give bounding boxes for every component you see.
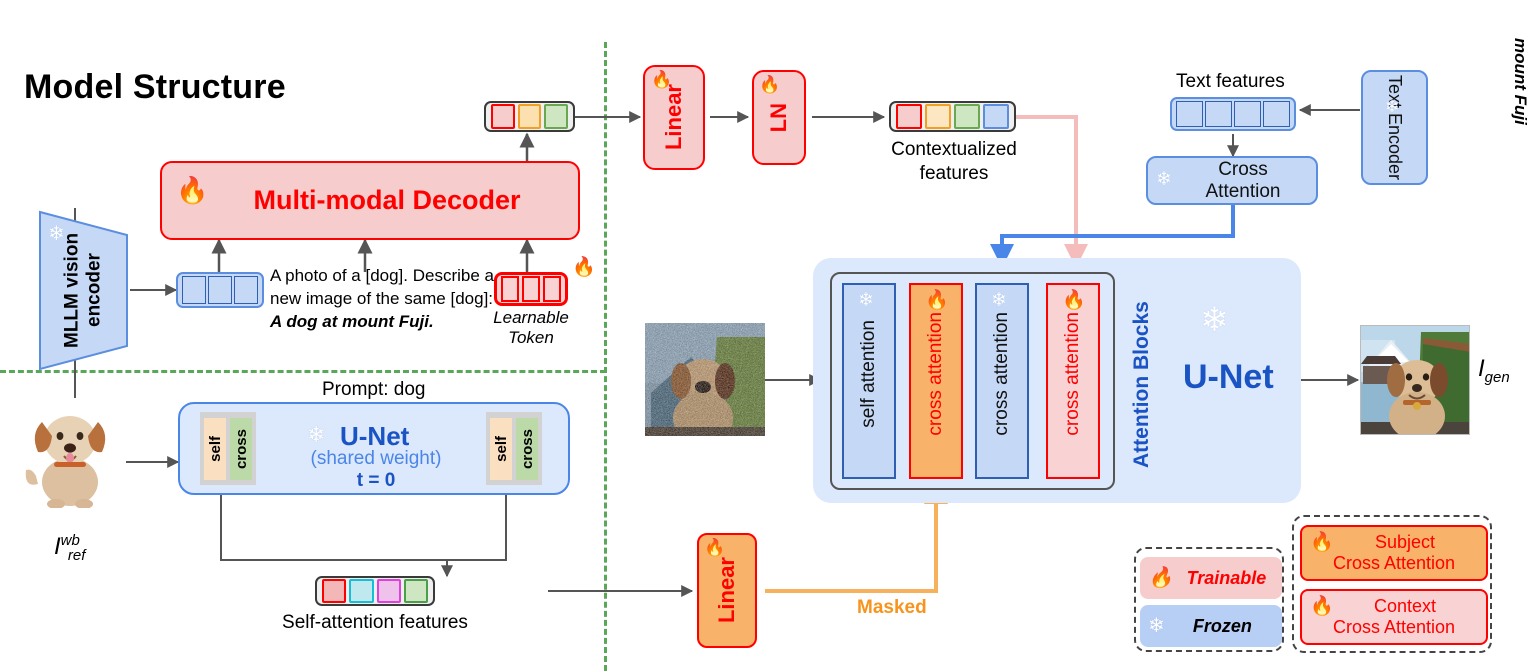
reference-image-render: [14, 398, 126, 508]
legend-cross-attentions: 🔥 Subject Cross Attention 🔥 Context Cros…: [1292, 515, 1492, 653]
ln-block-label: LN: [766, 103, 792, 132]
linear-block-top[interactable]: 🔥 Linear: [643, 65, 705, 170]
linear-block-top-label: Linear: [661, 84, 687, 150]
ln-block[interactable]: 🔥 LN: [752, 70, 806, 165]
contextualized-cell: [896, 104, 922, 129]
linear-block-bottom[interactable]: 🔥 Linear: [697, 533, 757, 648]
text-feature-cell: [1176, 101, 1203, 127]
shared-unet-right-cross-label: cross: [519, 429, 536, 469]
fire-icon: 🔥: [1310, 597, 1334, 616]
text-cross-attention-block[interactable]: ❄ Cross Attention: [1146, 156, 1318, 205]
shared-unet-sub2: t = 0: [286, 470, 466, 492]
learnable-token-label-line1: Learnable: [493, 308, 569, 328]
fire-icon: 🔥: [1062, 291, 1086, 310]
prompt-text-block: A photo of a [dog]. Describe a new image…: [270, 265, 495, 334]
snowflake-icon: ❄: [858, 291, 874, 310]
decoder-output-strip: [484, 101, 575, 132]
subject-cross-attention-column[interactable]: 🔥 cross attention: [909, 283, 963, 479]
text-prompt-rotated: A dog at mount Fuji: [1430, 38, 1530, 158]
generated-image-render: [1361, 326, 1470, 435]
legend-trainable-frozen: 🔥 Trainable ❄ Frozen: [1134, 547, 1284, 652]
context-text-cross-attention-column[interactable]: ❄ cross attention: [975, 283, 1029, 479]
decoder-output-cell: [491, 104, 515, 129]
mllm-vision-encoder-label: MLLM vision encoder: [36, 208, 131, 373]
self-attention-features-strip: [315, 576, 435, 606]
legend-subject-line2: Cross Attention: [1333, 553, 1455, 574]
i-gen-sub: gen: [1485, 369, 1510, 386]
vertical-divider: [604, 42, 607, 671]
fire-icon: 🔥: [925, 291, 949, 310]
text-prompt-rotated-label: A dog at mount Fuji: [1430, 38, 1530, 158]
reference-image: [14, 398, 126, 508]
contextualized-features-strip: [889, 101, 1016, 132]
text-encoder-block[interactable]: ❄ Text Encoder: [1361, 70, 1428, 185]
shared-unet-sub1: (shared weight): [286, 448, 466, 470]
snowflake-icon: ❄: [1156, 170, 1172, 189]
prompt-dog-label: Prompt: dog: [322, 379, 426, 401]
linear-block-bottom-label: Linear: [714, 557, 740, 623]
vision-token-cell: [208, 276, 232, 304]
shared-unet-left-self[interactable]: self: [204, 418, 226, 480]
unet-main-label: U-Net: [1183, 358, 1274, 397]
self-attention-column[interactable]: ❄ self attention: [842, 283, 896, 479]
text-feature-cell: [1234, 101, 1261, 127]
vision-token-cell: [182, 276, 206, 304]
fire-icon: 🔥: [176, 177, 208, 203]
snowflake-icon: ❄: [1148, 616, 1165, 636]
i-ref-main: I: [54, 533, 61, 560]
text-feature-cell: [1205, 101, 1232, 127]
context-cross-attention-label: cross attention: [1062, 312, 1084, 436]
generated-image-label: Igen: [1478, 355, 1510, 386]
reference-image-label: Iwbref: [54, 532, 85, 564]
page-title: Model Structure: [24, 68, 286, 107]
fire-icon: 🔥: [704, 539, 725, 556]
diagram-canvas: Model Structure: [0, 0, 1530, 671]
prompt-line-1: A photo of a [dog]. Describe a: [270, 265, 495, 288]
learnable-token-label-line2: Token: [508, 328, 554, 348]
shared-unet-left-cross[interactable]: cross: [230, 418, 252, 480]
contextualized-cell: [954, 104, 980, 129]
subject-cross-attention-label: cross attention: [925, 312, 947, 436]
legend-subject-line1: Subject: [1375, 532, 1435, 553]
contextualized-cell: [925, 104, 951, 129]
text-cross-attention-line1: Cross: [1218, 159, 1268, 181]
mllm-vision-encoder[interactable]: ❄ MLLM vision encoder: [36, 208, 131, 373]
contextualized-cell: [983, 104, 1009, 129]
decoder-output-cell: [544, 104, 568, 129]
generated-image: [1360, 325, 1470, 435]
self-attention-feature-cell: [377, 579, 401, 603]
legend-frozen-label: Frozen: [1171, 616, 1274, 637]
contextualized-label-line1: Contextualized: [891, 138, 1017, 162]
masked-label: Masked: [857, 597, 927, 619]
i-gen-main: I: [1478, 355, 1485, 382]
legend-frozen-pill: ❄ Frozen: [1140, 605, 1282, 647]
snowflake-icon: ❄: [307, 424, 325, 446]
vision-token-cell: [234, 276, 258, 304]
snowflake-icon: ❄: [1200, 303, 1229, 337]
fire-icon: 🔥: [572, 258, 596, 277]
shared-unet-left-cross-label: cross: [233, 429, 250, 469]
fire-icon: 🔥: [1148, 568, 1173, 588]
learnable-token-cell: [543, 276, 561, 302]
prompt-line-3: A dog at mount Fuji.: [270, 311, 495, 334]
multi-modal-decoder-label: Multi-modal Decoder: [253, 185, 520, 216]
multi-modal-decoder[interactable]: 🔥 Multi-modal Decoder: [160, 161, 580, 240]
contextualized-features-label: Contextualized features: [872, 138, 1036, 186]
learnable-token-strip: [494, 272, 568, 306]
text-features-strip: [1170, 97, 1296, 131]
self-attention-feature-cell: [322, 579, 346, 603]
fire-icon: 🔥: [1310, 533, 1334, 552]
noisy-latent-image: [645, 323, 765, 436]
attention-blocks-label: Attention Blocks: [1118, 300, 1166, 470]
shared-unet-right-cross[interactable]: cross: [516, 418, 538, 480]
learnable-token-label: Learnable Token: [482, 308, 580, 349]
snowflake-icon: ❄: [991, 291, 1007, 310]
shared-unet-left-self-label: self: [207, 436, 224, 462]
fire-icon: 🔥: [759, 76, 780, 93]
frozen-cross-attention-label: cross attention: [991, 312, 1013, 436]
self-attention-label: self attention: [858, 320, 880, 428]
snowflake-icon: ❄: [1385, 98, 1399, 115]
self-attention-feature-cell: [349, 579, 373, 603]
legend-context-cross-attention: 🔥 Context Cross Attention: [1300, 589, 1488, 645]
legend-context-line2: Cross Attention: [1333, 617, 1455, 638]
contextualized-label-line2: features: [920, 162, 989, 186]
legend-subject-cross-attention: 🔥 Subject Cross Attention: [1300, 525, 1488, 581]
noisy-image-render: [645, 323, 765, 436]
text-features-label: Text features: [1176, 71, 1285, 93]
vision-token-strip: [176, 272, 264, 308]
self-attention-feature-cell: [404, 579, 428, 603]
i-ref-sub: ref: [68, 547, 86, 564]
self-attention-features-label: Self-attention features: [255, 612, 495, 634]
learnable-token-cell: [501, 276, 519, 302]
legend-trainable-label: Trainable: [1179, 568, 1274, 589]
context-cross-attention-column[interactable]: 🔥 cross attention: [1046, 283, 1100, 479]
decoder-output-cell: [518, 104, 542, 129]
learnable-token-cell: [522, 276, 540, 302]
shared-unet-right-self[interactable]: self: [490, 418, 512, 480]
text-encoder-label: Text Encoder: [1384, 75, 1405, 180]
prompt-line-2: new image of the same [dog]:: [270, 288, 495, 311]
legend-trainable-pill: 🔥 Trainable: [1140, 557, 1282, 599]
text-feature-cell: [1263, 101, 1290, 127]
text-cross-attention-line2: Attention: [1206, 181, 1281, 203]
shared-unet-right-self-label: self: [493, 436, 510, 462]
legend-context-line1: Context: [1374, 596, 1436, 617]
